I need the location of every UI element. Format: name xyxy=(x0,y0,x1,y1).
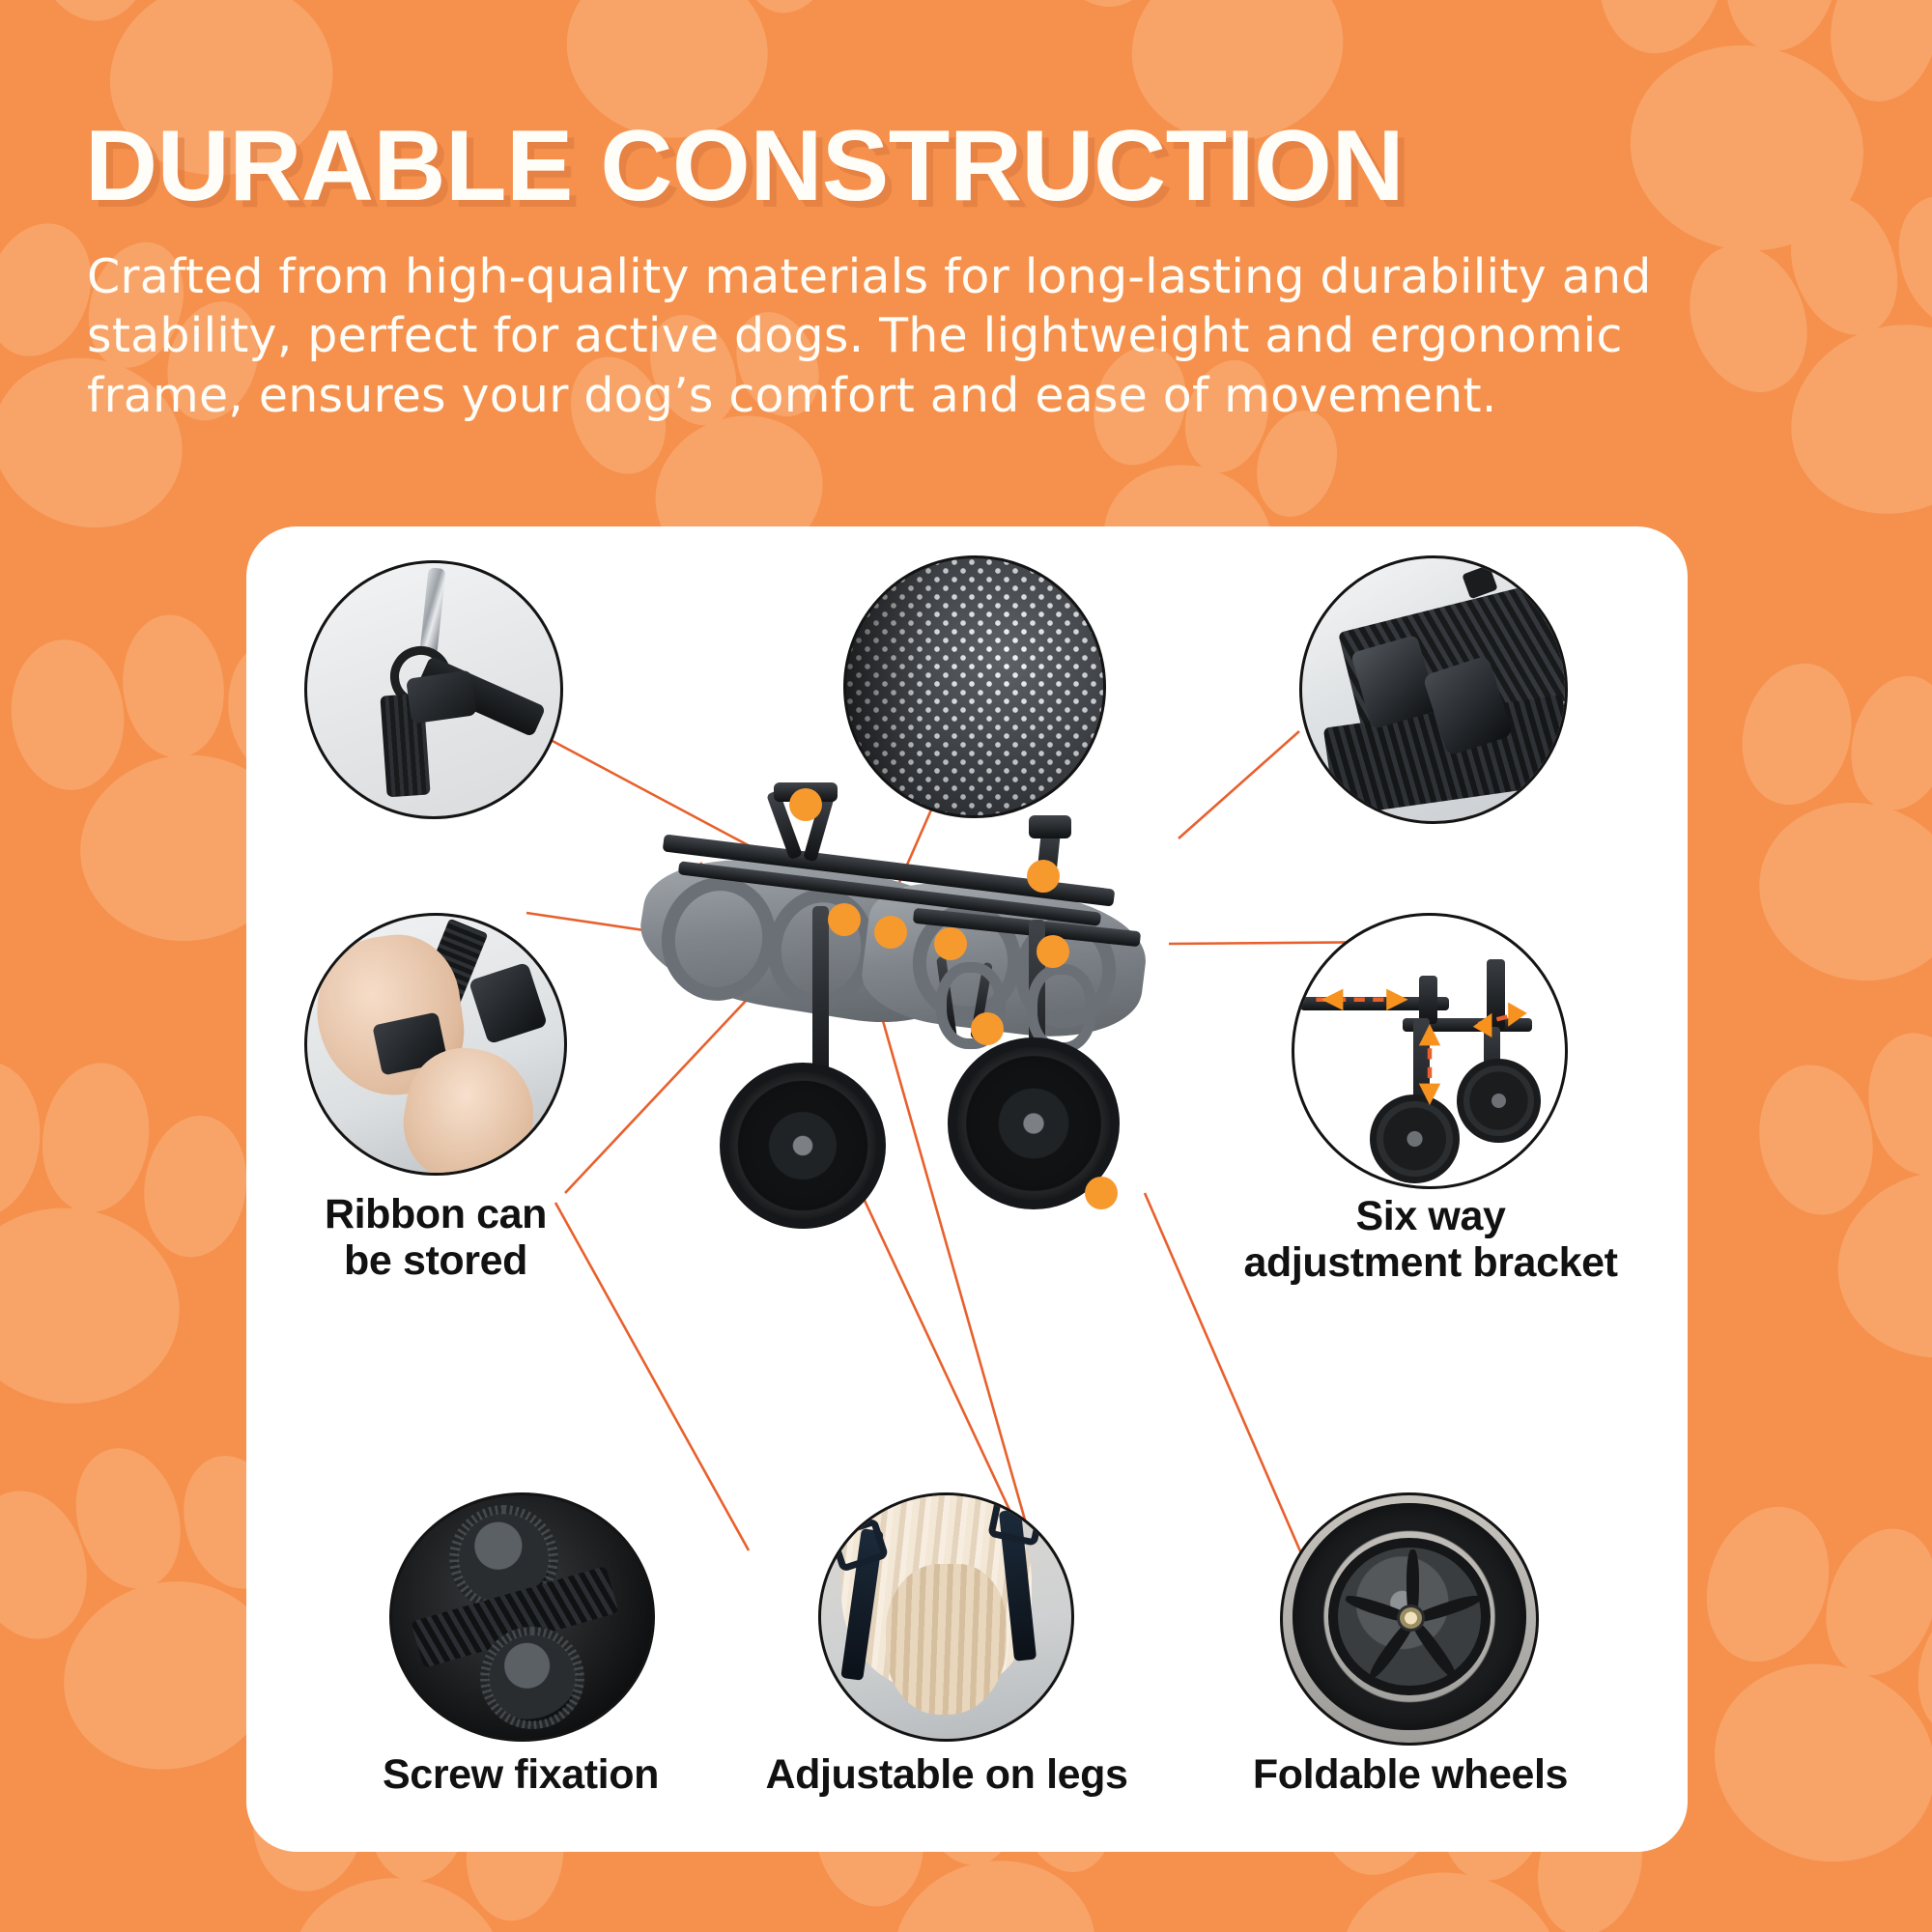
hotspot-dot-mesh-panel[interactable] xyxy=(874,916,907,949)
feature-photo-ribbon-can-be-stored xyxy=(304,913,567,1176)
hotspot-dot-ribbon[interactable] xyxy=(934,927,967,960)
feature-card: D-ring for buckle Breathable Reinforced … xyxy=(246,526,1688,1852)
hotspot-dot-foldable-wheel[interactable] xyxy=(1085,1177,1118,1209)
feature-photo-screw-fixation xyxy=(389,1492,655,1742)
feature-photo-d-ring-for-buckle xyxy=(304,560,563,819)
feature-label-foldable-wheels: Foldable wheels xyxy=(1212,1751,1608,1798)
feature-photo-foldable-wheels xyxy=(1280,1492,1539,1746)
hotspot-dot-d-ring[interactable] xyxy=(789,788,822,821)
hotspot-dot-six-way[interactable] xyxy=(1037,935,1069,968)
feature-photo-six-way-adjustment-bracket xyxy=(1292,913,1568,1189)
feature-photo-adjustable-on-legs xyxy=(818,1492,1074,1742)
hotspot-dot-adjustable-legs[interactable] xyxy=(971,1012,1004,1045)
infographic-root: DURABLE CONSTRUCTION Crafted from high-q… xyxy=(0,0,1932,1932)
feature-label-ribbon-can-be-stored: Ribbon can be stored xyxy=(300,1191,571,1284)
feature-photo-reinforced-buckle xyxy=(1299,555,1568,824)
feature-label-screw-fixation: Screw fixation xyxy=(347,1751,695,1798)
hotspot-dot-breathable[interactable] xyxy=(828,903,861,936)
feature-label-adjustable-on-legs: Adjustable on legs xyxy=(700,1751,1193,1798)
product-hero-image xyxy=(623,773,1280,1333)
page-subtitle: Crafted from high-quality materials for … xyxy=(87,247,1787,425)
feature-label-six-way-adjustment-bracket: Six way adjustment bracket xyxy=(1241,1193,1620,1286)
hotspot-dot-reinforced-buckle[interactable] xyxy=(1027,860,1060,893)
page-title: DURABLE CONSTRUCTION xyxy=(85,116,1631,216)
